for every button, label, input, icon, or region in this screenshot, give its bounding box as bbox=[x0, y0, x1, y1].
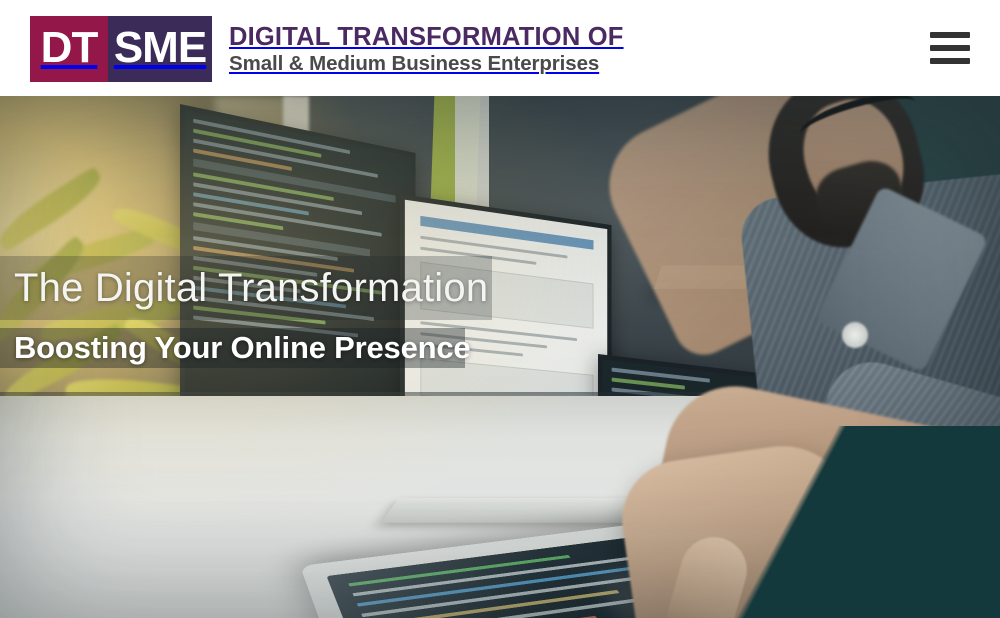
logo-box-dt: DT bbox=[30, 16, 108, 82]
hero-title: The Digital Transformation bbox=[14, 256, 488, 320]
logo-tagline-line-2: Small & Medium Business Enterprises bbox=[229, 53, 624, 76]
hamburger-bar-2 bbox=[930, 45, 970, 51]
brand-logo-link[interactable]: DT SME DIGITAL TRANSFORMATION OF Small &… bbox=[30, 16, 624, 82]
logo-tagline-line-1: DIGITAL TRANSFORMATION OF bbox=[229, 24, 624, 52]
hero-subtitle-band: Boosting Your Online Presence bbox=[0, 328, 465, 368]
page-root: DT SME DIGITAL TRANSFORMATION OF Small &… bbox=[0, 0, 1000, 618]
logo-box-sme: SME bbox=[108, 16, 212, 82]
site-header: DT SME DIGITAL TRANSFORMATION OF Small &… bbox=[0, 0, 1000, 96]
photo-person-button bbox=[842, 322, 868, 348]
hamburger-bar-1 bbox=[930, 32, 970, 38]
hamburger-menu-icon[interactable] bbox=[924, 22, 976, 74]
hamburger-bar-3 bbox=[930, 58, 970, 64]
hero-title-band: The Digital Transformation bbox=[0, 256, 492, 320]
logo-mark: DT SME bbox=[30, 16, 212, 82]
photo-keyboard bbox=[380, 498, 640, 523]
hero-section: The Digital Transformation Boosting Your… bbox=[0, 96, 1000, 618]
photo-teal-wall-mask bbox=[700, 426, 1000, 618]
hero-subtitle: Boosting Your Online Presence bbox=[14, 328, 470, 368]
logo-wordmark: DIGITAL TRANSFORMATION OF Small & Medium… bbox=[229, 15, 624, 83]
